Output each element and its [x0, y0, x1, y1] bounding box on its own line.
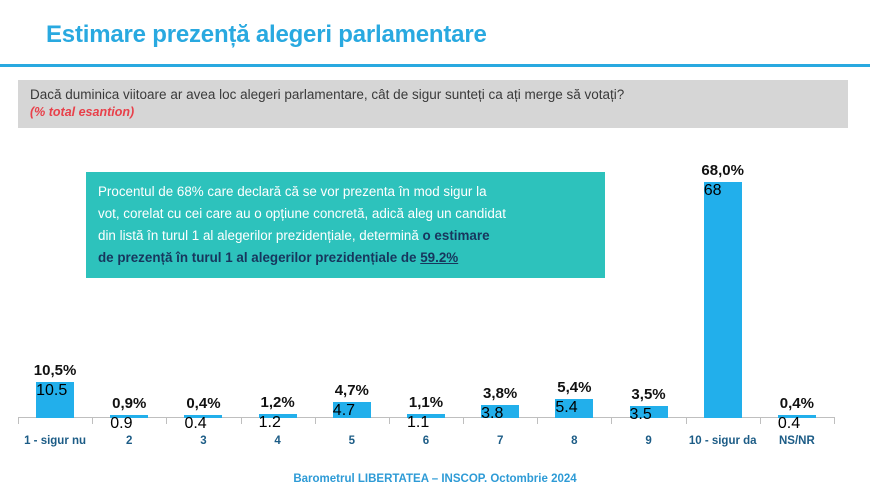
bar[interactable]: 4.7 [333, 402, 371, 418]
chart-category-9: 3.53,5%9 [611, 150, 685, 450]
axis-tick [686, 417, 687, 424]
axis-category-label: NS/NR [755, 435, 839, 448]
chart-category-10: 6868,0%10 - sigur da [686, 150, 760, 450]
axis-tick [315, 417, 316, 424]
bar[interactable]: 0.9 [110, 415, 148, 418]
axis-tick [389, 417, 390, 424]
bar[interactable]: 3.8 [481, 405, 519, 418]
source-footer: Barometrul LIBERTATEA – INSCOP. Octombri… [0, 473, 870, 485]
axis-category-label: 10 - sigur da [681, 435, 765, 448]
bar-value-label: 1,2% [261, 394, 295, 411]
axis-category-label: 8 [532, 435, 616, 448]
bar[interactable]: 0.4 [778, 415, 816, 418]
axis-category-label: 6 [384, 435, 468, 448]
bar[interactable]: 3.5 [630, 406, 668, 418]
chart-category-2: 0.90,9%2 [92, 150, 166, 450]
bar[interactable]: 1.2 [259, 414, 297, 418]
axis-tick [834, 417, 835, 424]
question-text: Dacă duminica viitoare ar avea loc alege… [30, 86, 848, 103]
bar[interactable]: 68 [704, 182, 742, 418]
axis-category-label: 5 [310, 435, 394, 448]
axis-tick [537, 417, 538, 424]
bar-value-label: 1,1% [409, 394, 443, 411]
title-divider [0, 64, 870, 67]
chart-category-7: 3.83,8%7 [463, 150, 537, 450]
axis-tick [18, 417, 19, 424]
bar-chart: 10.510,5%1 - sigur nu0.90,9%20.40,4%31.2… [18, 150, 834, 450]
chart-category-8: 5.45,4%8 [537, 150, 611, 450]
bar-value-label: 0,9% [112, 395, 146, 412]
axis-tick [92, 417, 93, 424]
chart-category-6: 1.11,1%6 [389, 150, 463, 450]
bar[interactable]: 1.1 [407, 414, 445, 418]
axis-category-label: 2 [87, 435, 171, 448]
bar-value-label: 3,5% [631, 386, 665, 403]
chart-category-1: 10.510,5%1 - sigur nu [18, 150, 92, 450]
bar-value-label: 10,5% [34, 362, 77, 379]
axis-tick [760, 417, 761, 424]
question-note: (% total esantion) [30, 104, 848, 121]
bar[interactable]: 10.5 [36, 382, 74, 418]
bar-value-label: 3,8% [483, 385, 517, 402]
axis-tick [611, 417, 612, 424]
axis-tick [463, 417, 464, 424]
page-title: Estimare prezență alegeri parlamentare [46, 21, 487, 49]
bar-value-label: 4,7% [335, 382, 369, 399]
axis-category-label: 9 [607, 435, 691, 448]
axis-category-label: 7 [458, 435, 542, 448]
bar-value-label: 68,0% [701, 162, 744, 179]
axis-category-label: 4 [236, 435, 320, 448]
axis-category-label: 3 [161, 435, 245, 448]
axis-tick [241, 417, 242, 424]
bar[interactable]: 5.4 [555, 399, 593, 418]
bar-value-label: 5,4% [557, 379, 591, 396]
chart-category-4: 1.21,2%4 [241, 150, 315, 450]
bar-value-label: 0,4% [186, 395, 220, 412]
chart-category-11: 0.40,4%NS/NR [760, 150, 834, 450]
bar[interactable]: 0.4 [184, 415, 222, 418]
axis-category-label: 1 - sigur nu [13, 435, 97, 448]
chart-category-3: 0.40,4%3 [166, 150, 240, 450]
axis-tick [166, 417, 167, 424]
chart-category-5: 4.74,7%5 [315, 150, 389, 450]
bar-value-label: 0,4% [780, 395, 814, 412]
question-band: Dacă duminica viitoare ar avea loc alege… [18, 80, 848, 128]
